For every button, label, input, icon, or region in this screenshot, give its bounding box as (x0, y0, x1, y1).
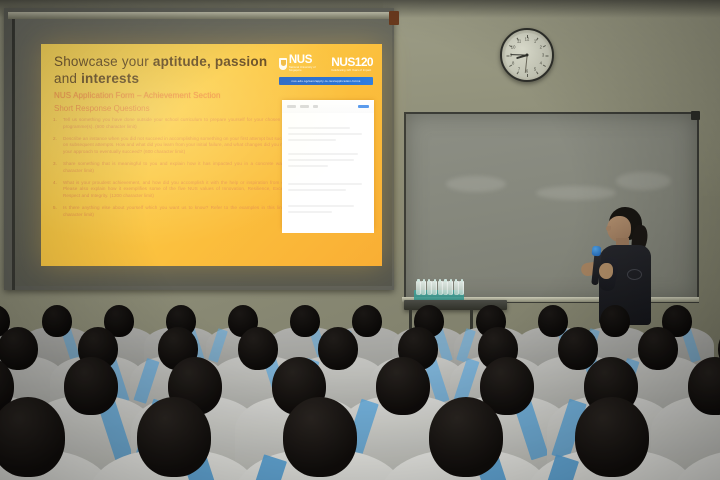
clock-numeral: 5 (534, 66, 536, 71)
form-toolbar-label (287, 105, 296, 107)
projection-screen-rail (8, 12, 398, 19)
form-text-line (288, 153, 358, 155)
clock-tick (546, 56, 549, 57)
projection-screen-edge (12, 18, 15, 290)
whiteboard-smudge (446, 176, 506, 192)
form-toolbar (282, 100, 374, 113)
question-text: Describe an instance when you did not su… (63, 136, 297, 154)
form-text-line (288, 165, 328, 167)
projection-screen-mount (389, 11, 399, 25)
clock-numeral: 4 (540, 61, 542, 66)
nus-logo-block: NUS National University of Singapore NUS… (279, 52, 373, 85)
application-form-screenshot (282, 100, 374, 229)
clock-tick (543, 65, 546, 67)
audience-student-head (137, 397, 211, 477)
form-toolbar-label (313, 105, 318, 107)
microphone-head-icon (592, 246, 602, 257)
presentation-slide: Showcase your aptitude, passion and inte… (41, 44, 382, 266)
question-item: 1.Tell us something you have done outsid… (52, 117, 297, 130)
slide-title-line1-bold: aptitude, passion (153, 54, 267, 69)
clock-tick (543, 45, 546, 47)
audience-student-head (352, 305, 382, 337)
audience-student-head (638, 327, 678, 370)
question-text: Is there anything else about yourself wh… (63, 205, 297, 217)
clock-numeral: 10 (511, 45, 516, 50)
form-text-line (288, 127, 350, 129)
nus-url-banner: nus.edu.sg/oam/apply-to-nus/application-… (279, 77, 373, 85)
clock-numeral: 11 (517, 39, 521, 44)
clock-tick (536, 71, 538, 74)
question-number: 3. (53, 161, 57, 168)
audience-student-head (575, 397, 649, 477)
nus-wordmark-tagline: National University of Singapore (289, 66, 324, 72)
audience-student-head (376, 357, 430, 415)
clock-numeral: 1 (534, 39, 536, 44)
audience-student-head (318, 327, 358, 370)
question-number: 1. (53, 117, 57, 124)
audience-student-head (238, 327, 278, 370)
presenter-nose (606, 226, 611, 231)
audience-student-head (429, 397, 503, 477)
form-text-line (288, 205, 354, 207)
clock-numeral: 7 (518, 66, 520, 71)
slide-subtitle: NUS Application Form – Achievement Secti… (54, 90, 304, 103)
question-text: Share something that is meaningful to yo… (63, 161, 297, 173)
audience-student-head (0, 327, 38, 370)
question-item: 3.Share something that is meaningful to … (52, 161, 297, 174)
whiteboard-smudge (616, 172, 671, 190)
form-toolbar-label (300, 105, 309, 107)
clock-tick (517, 71, 519, 74)
clock-numeral: 8 (512, 61, 514, 66)
slide-title-line2-plain: and (54, 71, 81, 86)
clock-center-pin (526, 54, 529, 57)
form-submit-button (358, 105, 369, 108)
question-number: 5. (53, 205, 57, 212)
audience-student-head (64, 357, 118, 415)
question-number: 4. (53, 180, 57, 187)
wall-clock: 121234567891011 (500, 28, 554, 82)
question-number: 2. (53, 136, 57, 143)
nus-wordmark: NUS (289, 55, 324, 66)
audience-student-head (42, 305, 72, 337)
slide-section-heading: Short Response Questions (54, 103, 304, 115)
audience-student-head (600, 305, 630, 337)
nus120-mark: NUS120 (331, 55, 373, 69)
audience-student-head (290, 305, 320, 337)
form-text-line (288, 159, 354, 161)
nus-shield-icon: NUS National University of Singapore (279, 55, 324, 72)
question-item: 4.What is your proudest achievement, and… (52, 180, 297, 200)
short-response-question-list: 1.Tell us something you have done outsid… (52, 117, 297, 224)
form-text-line (288, 133, 362, 135)
slide-title-line2-bold: interests (81, 71, 139, 86)
form-text-line (288, 211, 332, 213)
whiteboard-smudge (536, 186, 616, 200)
clock-face: 121234567891011 (505, 33, 549, 77)
slide-title: Showcase your aptitude, passion and inte… (54, 53, 304, 87)
clock-tick (527, 74, 528, 77)
question-item: 5.Is there anything else about yourself … (52, 205, 297, 218)
form-text-line (288, 183, 362, 185)
clock-numeral: 3 (542, 53, 544, 58)
clock-numeral: 12 (525, 37, 530, 42)
form-content-area (282, 113, 374, 233)
clock-numeral: 2 (540, 45, 542, 50)
lecture-hall-scene: 121234567891011 Showcase your aptitude, … (0, 0, 720, 480)
whiteboard-corner-bracket (691, 111, 700, 120)
clock-tick (536, 38, 538, 41)
question-text: What is your proudest achievement, and h… (63, 180, 297, 198)
audience-student-head (283, 397, 357, 477)
nus-url-text: nus.edu.sg/oam/apply-to-nus/application-… (291, 79, 360, 83)
question-text: Tell us something you have done outside … (63, 117, 297, 129)
student-audience (0, 265, 720, 480)
slide-title-line1-plain: Showcase your (54, 54, 153, 69)
form-text-line (288, 139, 336, 141)
question-item: 2.Describe an instance when you did not … (52, 136, 297, 156)
nus120-subtitle: Celebrating 120 Years of Impact (331, 69, 373, 72)
form-text-line (288, 189, 346, 191)
